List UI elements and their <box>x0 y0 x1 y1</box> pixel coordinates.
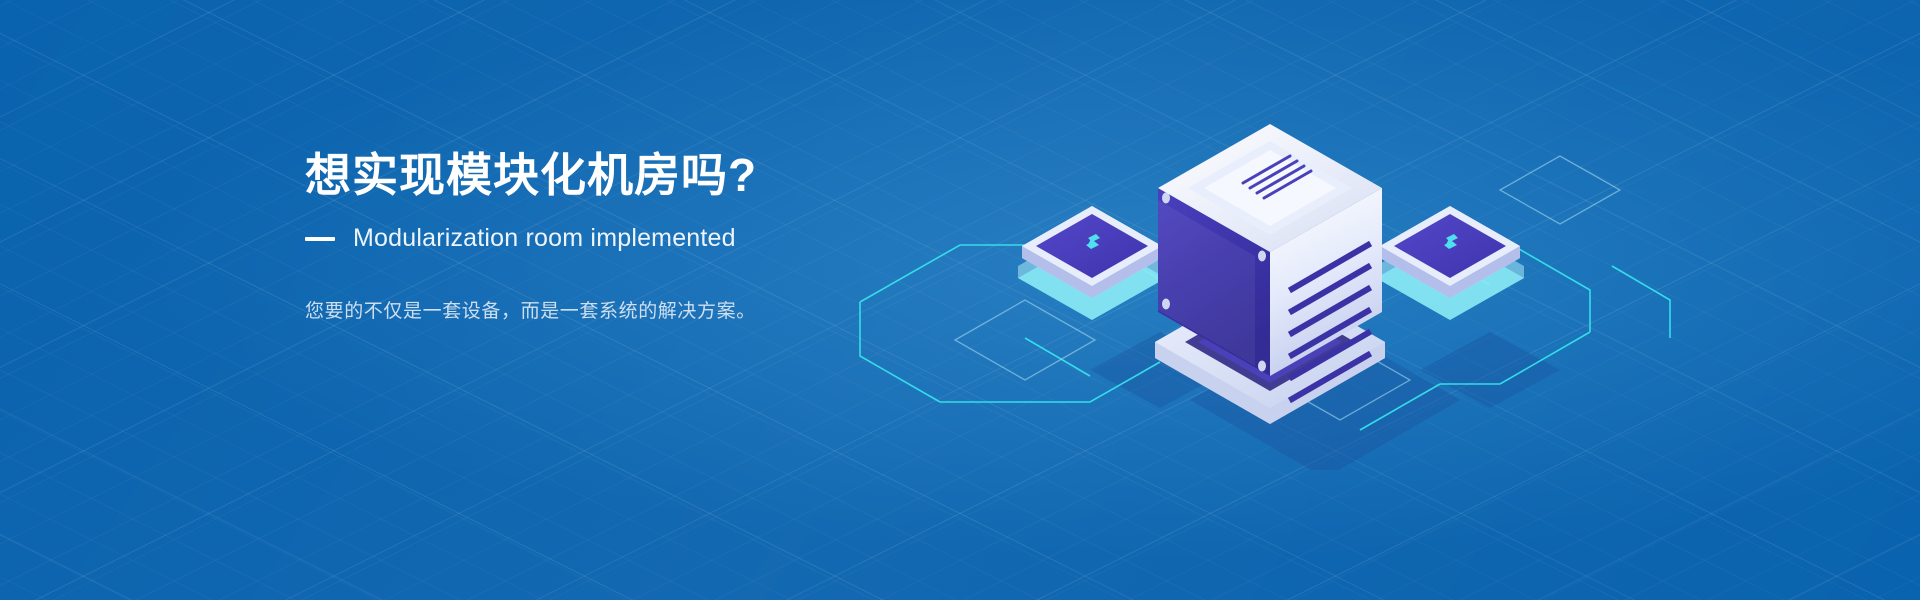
banner-headline: 想实现模块化机房吗? <box>305 148 945 202</box>
banner-subtitle: Modularization room implemented <box>353 224 736 253</box>
banner-copy: 想实现模块化机房吗? Modularization room implement… <box>305 148 945 347</box>
banner-description: 您要的不仅是一套设备，而是一套系统的解决方案。 <box>305 297 945 327</box>
chip-module-right <box>1376 206 1524 320</box>
banner-subline: Modularization room implemented <box>305 224 945 253</box>
accent-rule <box>305 237 335 241</box>
hero-banner: 想实现模块化机房吗? Modularization room implement… <box>0 0 1920 600</box>
chip-module-left <box>1018 206 1166 320</box>
